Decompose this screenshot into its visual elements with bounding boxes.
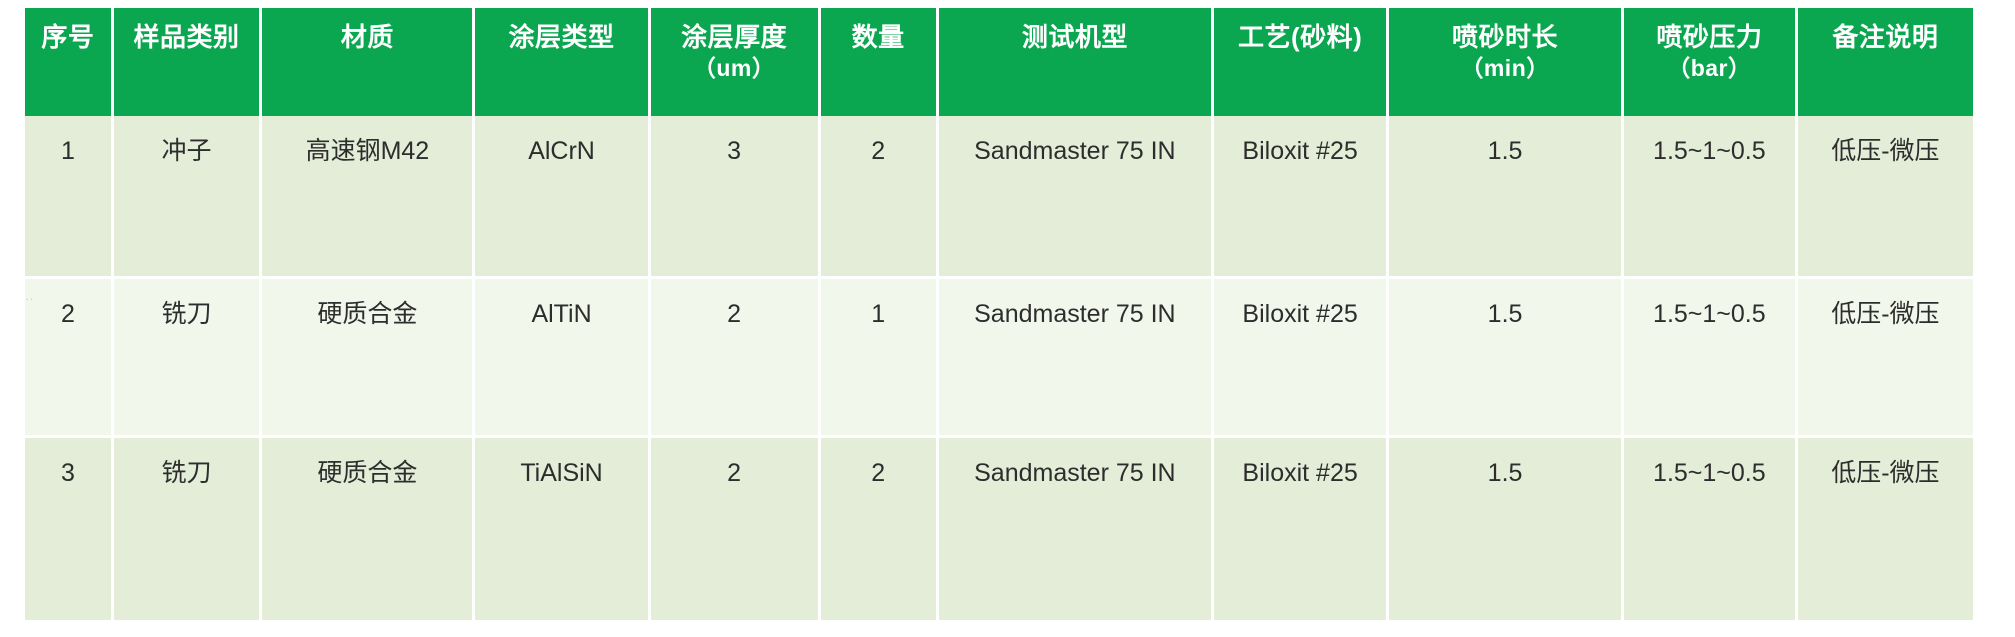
- cell-material: 高速钢M42: [262, 116, 475, 279]
- column-header-unit-label: （um）: [655, 54, 814, 82]
- cell-coating-type: TiAlSiN: [475, 438, 650, 620]
- cell-process-media: Biloxit #25: [1214, 279, 1389, 438]
- cell-quantity: 1: [821, 279, 939, 438]
- cell-sample-type: 铣刀: [114, 438, 262, 620]
- cell-blast-time: 1.5: [1389, 438, 1624, 620]
- column-header-sample-type[interactable]: 样品类别: [114, 8, 262, 116]
- cell-process-media: Biloxit #25: [1214, 116, 1389, 279]
- column-header-main-label: 数量: [852, 22, 905, 52]
- column-header-coating-type[interactable]: 涂层类型: [475, 8, 650, 116]
- cell-remark: 低压-微压: [1798, 438, 1973, 620]
- cell-coating-type: AlTiN: [475, 279, 650, 438]
- cell-no: 1: [25, 116, 114, 279]
- cell-blast-pressure: 1.5~1~0.5: [1624, 438, 1798, 620]
- cell-quantity: 2: [821, 438, 939, 620]
- column-header-unit-label: （bar）: [1628, 54, 1791, 82]
- cell-coating-thickness: 2: [651, 438, 821, 620]
- cell-no: 3: [25, 438, 114, 620]
- column-header-main-label: 工艺(砂料): [1238, 22, 1362, 52]
- cell-sample-type: 冲子: [114, 116, 262, 279]
- table-row[interactable]: 3 铣刀 硬质合金 TiAlSiN 2 2 Sandmaster 75 IN B…: [25, 438, 1973, 620]
- cell-process-media: Biloxit #25: [1214, 438, 1389, 620]
- column-header-coating-thickness[interactable]: 涂层厚度 （um）: [651, 8, 821, 116]
- column-header-main-label: 材质: [341, 22, 394, 52]
- cell-blast-time: 1.5: [1389, 279, 1624, 438]
- column-header-test-machine[interactable]: 测试机型: [939, 8, 1214, 116]
- cell-sample-type: 铣刀: [114, 279, 262, 438]
- table-body: 1 冲子 高速钢M42 AlCrN 3 2 Sandmaster 75 IN B…: [25, 116, 1973, 620]
- table-header-row: 序号 样品类别 材质 涂层类型 涂层厚度 （um）: [25, 8, 1973, 116]
- table-header: 序号 样品类别 材质 涂层类型 涂层厚度 （um）: [25, 8, 1973, 116]
- column-header-process-media[interactable]: 工艺(砂料): [1214, 8, 1389, 116]
- column-header-main-label: 喷砂时长: [1452, 22, 1558, 52]
- column-header-main-label: 样品类别: [134, 22, 240, 52]
- column-header-material[interactable]: 材质: [262, 8, 475, 116]
- column-header-unit-label: （min）: [1393, 54, 1617, 82]
- cell-quantity: 2: [821, 116, 939, 279]
- cell-remark: 低压-微压: [1798, 116, 1973, 279]
- cell-remark: 低压-微压: [1798, 279, 1973, 438]
- column-header-remark[interactable]: 备注说明: [1798, 8, 1973, 116]
- sample-blasting-spec-table: 序号 样品类别 材质 涂层类型 涂层厚度 （um）: [25, 8, 1973, 620]
- cell-blast-time: 1.5: [1389, 116, 1624, 279]
- column-header-blast-time[interactable]: 喷砂时长 （min）: [1389, 8, 1624, 116]
- column-header-main-label: 喷砂压力: [1656, 22, 1762, 52]
- column-header-main-label: 涂层类型: [509, 22, 615, 52]
- column-header-序号[interactable]: 序号: [25, 8, 114, 116]
- spec-table-container: ·· 序号 样品类别: [25, 8, 1973, 633]
- table-row[interactable]: 1 冲子 高速钢M42 AlCrN 3 2 Sandmaster 75 IN B…: [25, 116, 1973, 279]
- cell-no: 2: [25, 279, 114, 438]
- cell-coating-type: AlCrN: [475, 116, 650, 279]
- cell-coating-thickness: 3: [651, 116, 821, 279]
- column-header-blast-pressure[interactable]: 喷砂压力 （bar）: [1624, 8, 1798, 116]
- cell-blast-pressure: 1.5~1~0.5: [1624, 116, 1798, 279]
- column-header-main-label: 测试机型: [1022, 22, 1128, 52]
- column-header-quantity[interactable]: 数量: [821, 8, 939, 116]
- cell-blast-pressure: 1.5~1~0.5: [1624, 279, 1798, 438]
- table-row[interactable]: 2 铣刀 硬质合金 AlTiN 2 1 Sandmaster 75 IN Bil…: [25, 279, 1973, 438]
- column-header-main-label: 涂层厚度: [681, 22, 787, 52]
- column-header-main-label: 备注说明: [1832, 22, 1938, 52]
- edge-artifact-mark: ··: [25, 294, 34, 316]
- cell-test-machine: Sandmaster 75 IN: [939, 116, 1214, 279]
- cell-material: 硬质合金: [262, 279, 475, 438]
- cell-test-machine: Sandmaster 75 IN: [939, 279, 1214, 438]
- cell-material: 硬质合金: [262, 438, 475, 620]
- cell-test-machine: Sandmaster 75 IN: [939, 438, 1214, 620]
- column-header-main-label: 序号: [41, 22, 94, 52]
- cell-coating-thickness: 2: [651, 279, 821, 438]
